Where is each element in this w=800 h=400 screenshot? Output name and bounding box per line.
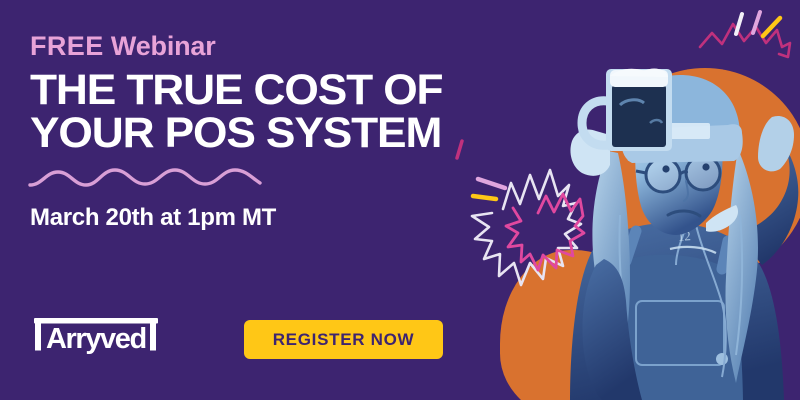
arryved-wordmark-text: Arryved: [46, 323, 146, 355]
pink-wavy-underline: [28, 164, 278, 190]
magenta-zigzag-starburst: [700, 24, 790, 57]
confetti-dash-white: [736, 14, 742, 34]
event-datetime: March 20th at 1pm MT: [30, 204, 500, 232]
confetti-dash-pink: [753, 12, 760, 33]
eyebrow-webinar-word: Webinar: [111, 31, 216, 61]
eyebrow-text: FREE Webinar: [30, 33, 500, 60]
register-now-button[interactable]: REGISTER NOW: [244, 320, 443, 359]
confetti-dash-yellow: [763, 18, 780, 36]
headline-line-2: YOUR POS SYSTEM: [30, 112, 514, 155]
eyebrow-free-word: FREE: [30, 31, 104, 61]
person-photo-duotone: 12: [500, 65, 800, 400]
arryved-logo-mark: Arryved: [32, 315, 165, 355]
arryved-logo[interactable]: Arryved: [32, 315, 165, 360]
copy-block: FREE Webinar THE TRUE COST OF YOUR POS S…: [30, 33, 500, 232]
page-title: THE TRUE COST OF YOUR POS SYSTEM: [30, 69, 514, 155]
headline-line-1: THE TRUE COST OF: [30, 69, 514, 112]
webinar-promo-banner: 12: [0, 0, 800, 400]
